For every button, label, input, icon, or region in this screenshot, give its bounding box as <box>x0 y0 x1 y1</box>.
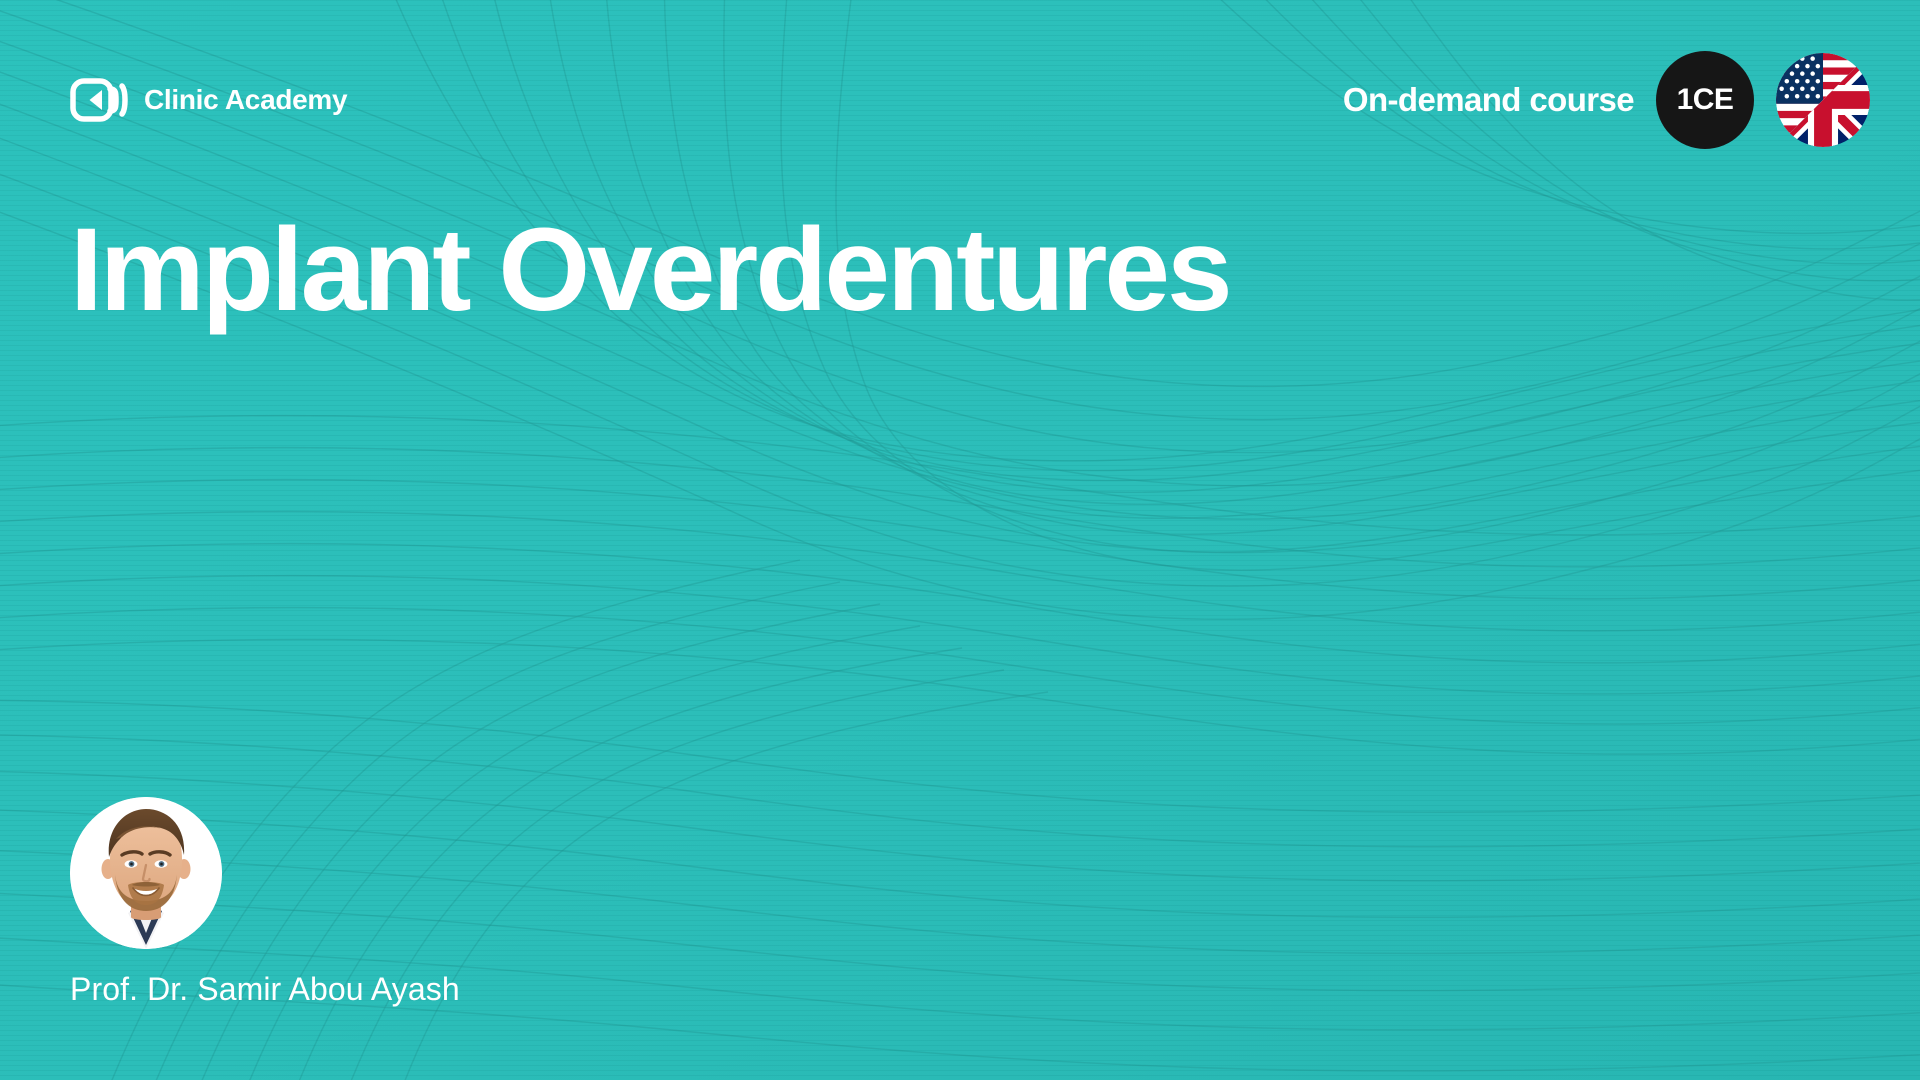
brand-name-label: Clinic Academy <box>144 84 347 116</box>
course-title-card: Clinic Academy On-demand course 1CE <box>0 0 1920 1080</box>
header-right-group: On-demand course 1CE <box>1343 51 1870 149</box>
presenter-name-label: Prof. Dr. Samir Abou Ayash <box>70 971 460 1008</box>
credit-badge[interactable]: 1CE <box>1656 51 1754 149</box>
credit-badge-label: 1CE <box>1677 83 1734 117</box>
us-uk-flag-icon[interactable] <box>1776 53 1870 147</box>
brand-logo[interactable]: Clinic Academy <box>70 77 347 123</box>
video-play-logo-icon <box>70 77 128 123</box>
course-type-label: On-demand course <box>1343 81 1634 119</box>
header-bar: Clinic Academy On-demand course 1CE <box>0 60 1920 140</box>
presenter-avatar-photo <box>70 797 222 949</box>
presenter-block: Prof. Dr. Samir Abou Ayash <box>70 797 460 1008</box>
course-title: Implant Overdentures <box>70 210 1570 330</box>
